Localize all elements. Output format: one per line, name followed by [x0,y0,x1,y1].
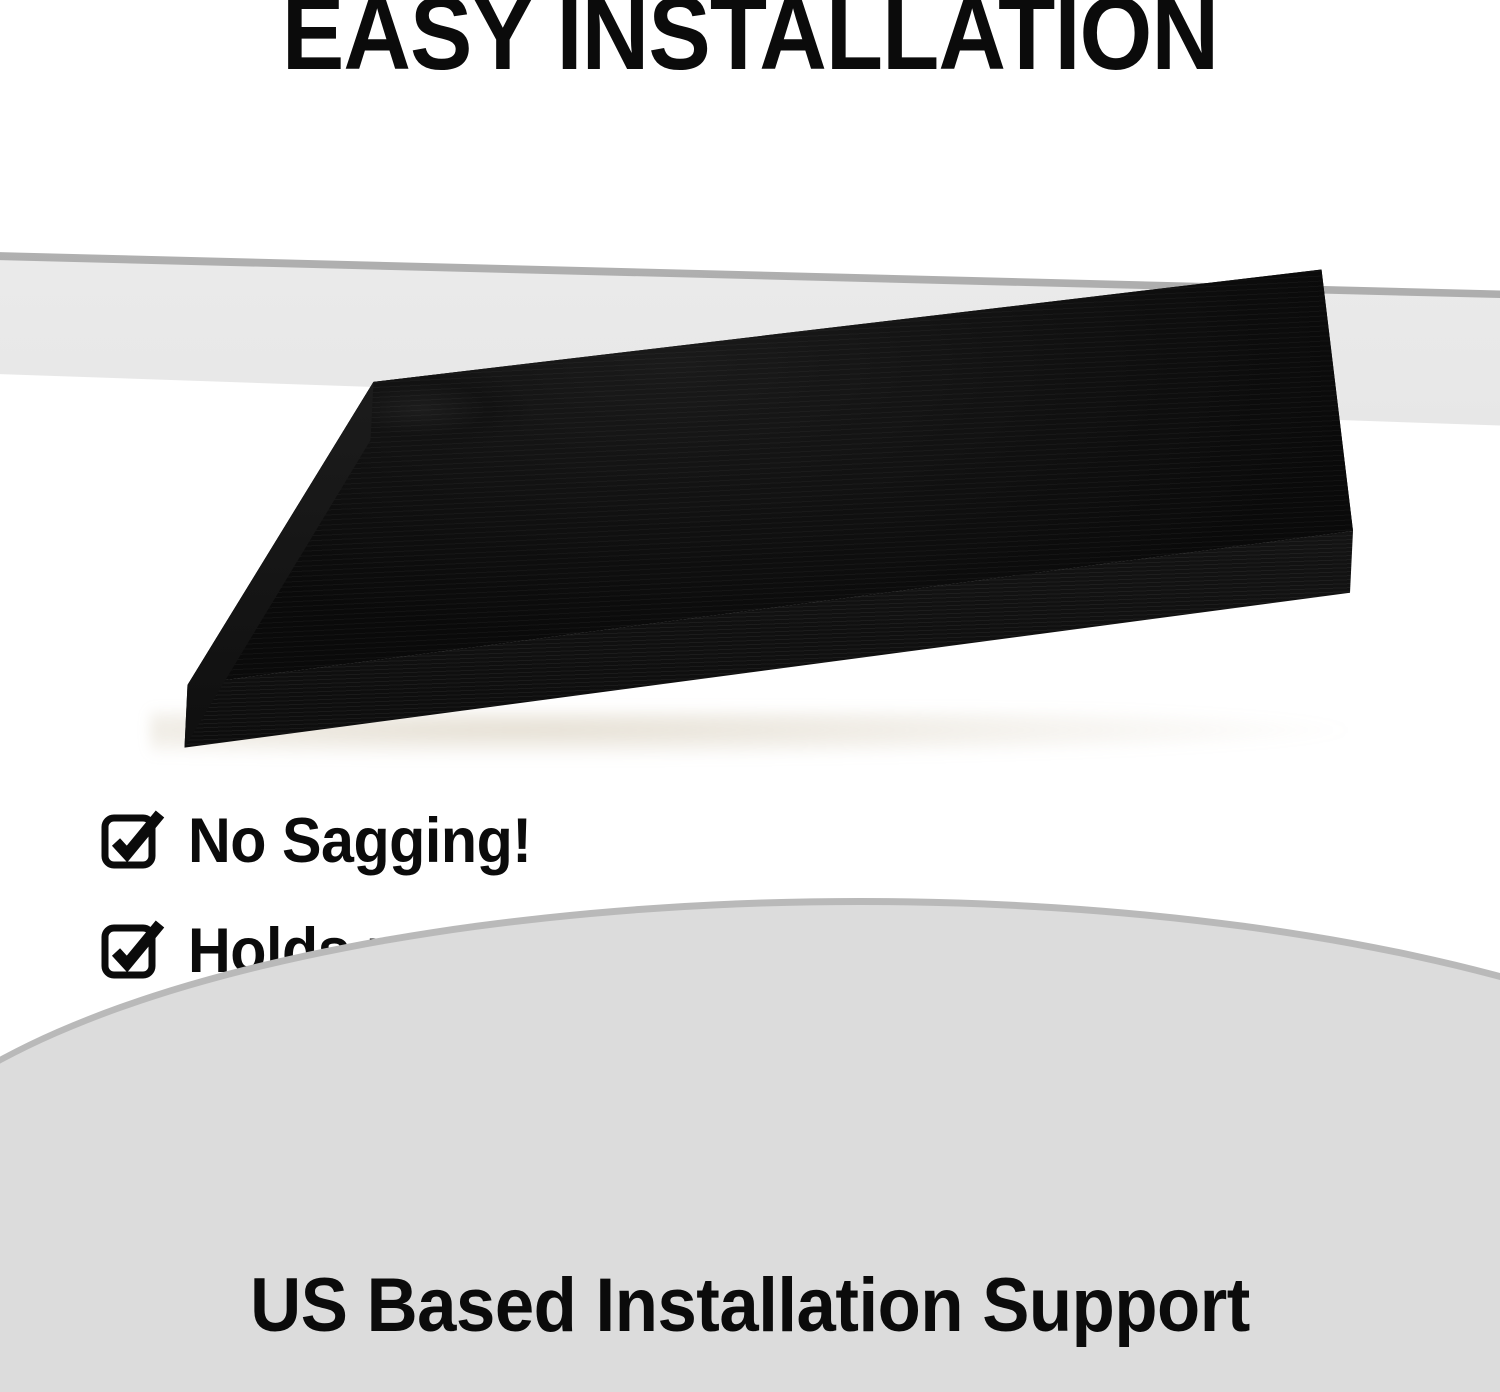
footer-support-text: US Based Installation Support [53,1268,1448,1344]
checkbox-checked-icon [100,918,166,984]
product-infographic: EASY INSTALLATION [0,0,1500,1392]
checkbox-checked-icon [100,808,166,874]
feature-label: No Sagging! [188,810,532,873]
page-title: EASY INSTALLATION [75,0,1425,86]
floating-shelf [0,150,1500,870]
list-item: No Sagging! [100,786,1000,896]
product-photo [0,150,1500,870]
shelf-top-face [0,150,1500,870]
